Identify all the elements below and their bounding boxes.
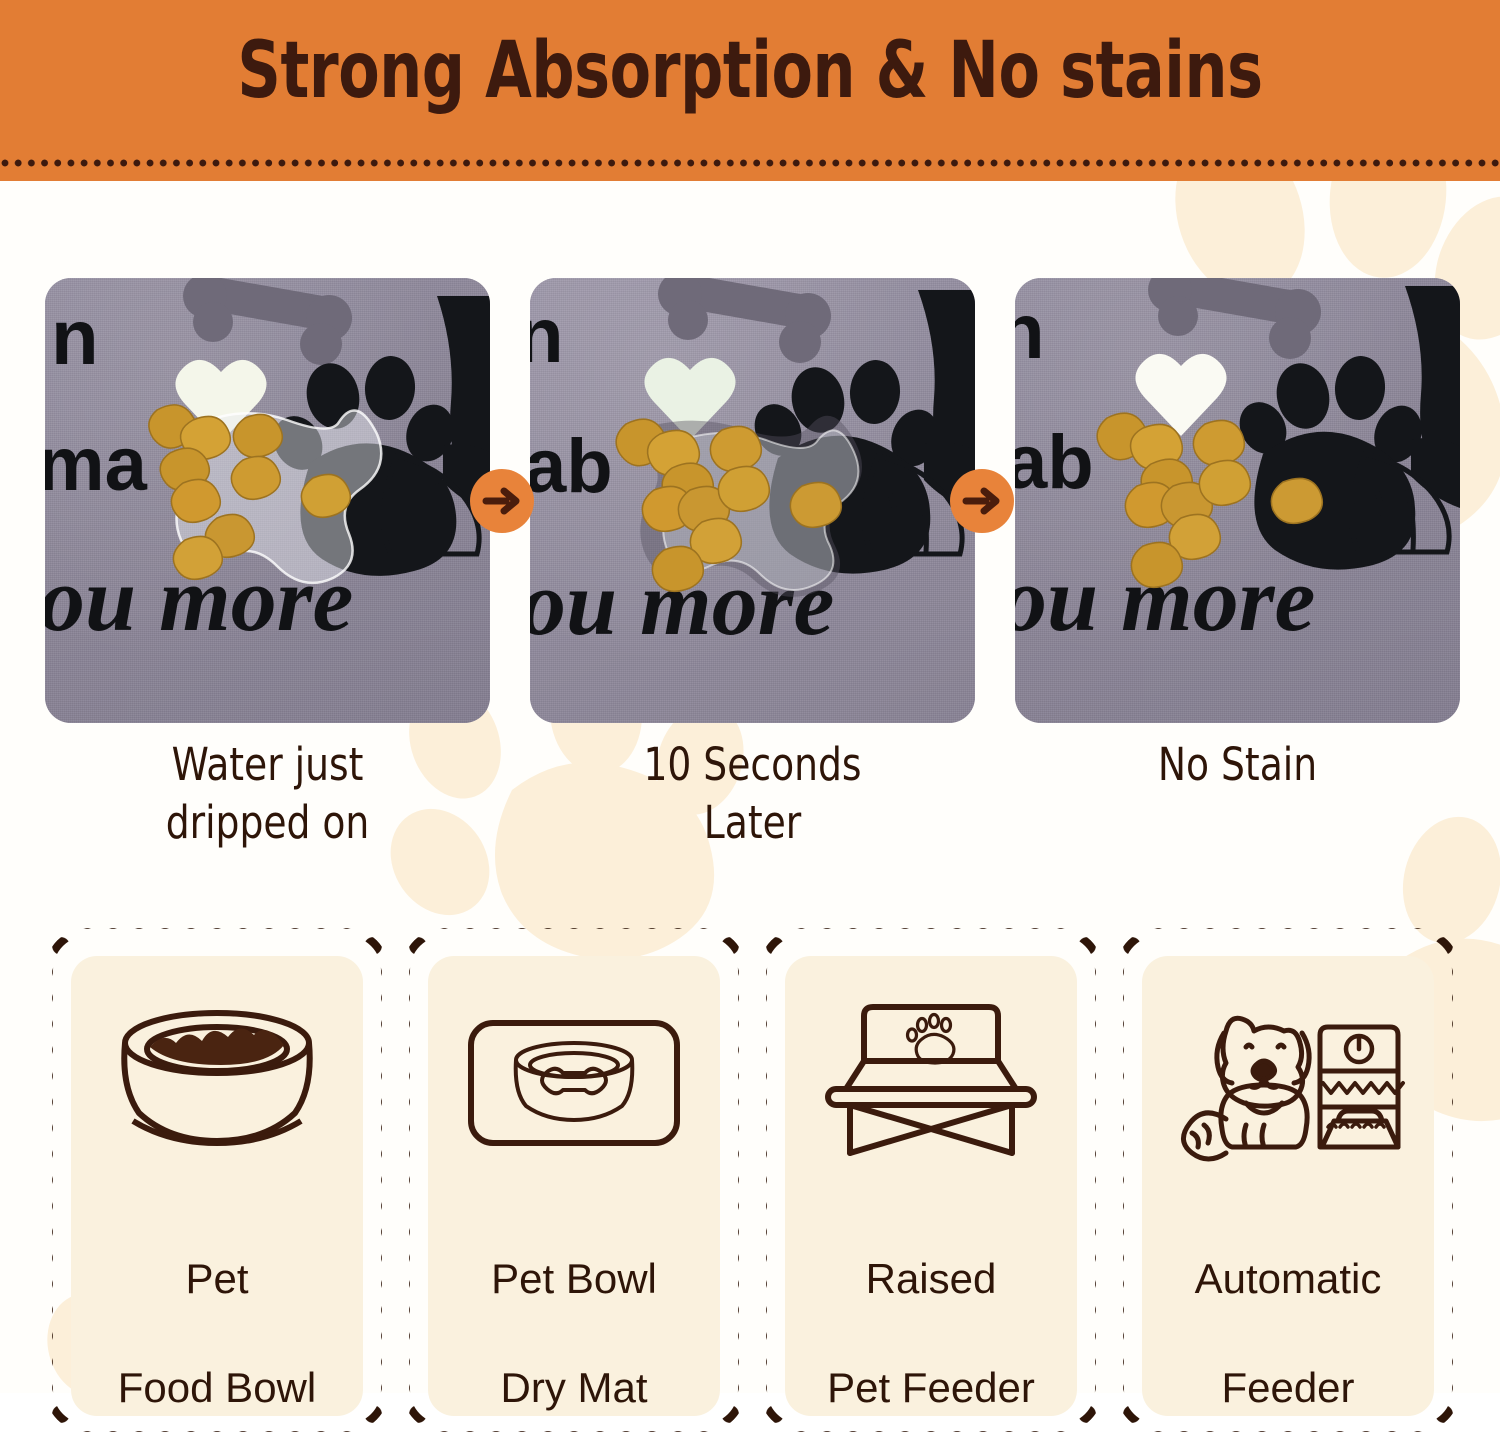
mat-artwork: n ab ou more <box>530 278 975 723</box>
caption-line: 10 Seconds <box>546 736 960 794</box>
use-case-card-automatic-feeder: Automatic Feeder <box>1116 928 1460 1432</box>
caption-step-ten-seconds: 10 Seconds Later <box>546 736 960 856</box>
arrow-right-icon <box>482 481 522 521</box>
card-label: Pet Food Bowl <box>118 1198 316 1416</box>
dog-food-bowl-icon <box>97 990 337 1176</box>
use-case-card-pet-food-bowl: Pet Food Bowl <box>45 928 389 1432</box>
caption-line: Later <box>546 794 960 852</box>
label-line2: Pet Feeder <box>827 1364 1035 1411</box>
card-label: Pet Bowl Dry Mat <box>491 1198 657 1416</box>
demo-photo-step-ten-seconds: n ab ou more <box>530 278 975 723</box>
bone-graphic <box>1148 278 1321 359</box>
demo-photo-step-no-stain: n ab ou more <box>1015 278 1460 723</box>
banner-dotted-divider <box>0 157 1500 169</box>
svg-text:ab: ab <box>530 424 613 509</box>
arrow-right-icon-1 <box>470 469 534 533</box>
svg-text:n: n <box>1015 287 1045 375</box>
use-case-card-pet-bowl-dry-mat: Pet Bowl Dry Mat <box>402 928 746 1432</box>
arrow-right-icon-2 <box>950 469 1014 533</box>
label-line2: Feeder <box>1221 1364 1354 1411</box>
label-line2: Dry Mat <box>501 1364 648 1411</box>
dog-with-automatic-feeder-icon <box>1168 990 1408 1176</box>
card-label: Raised Pet Feeder <box>827 1198 1035 1416</box>
svg-text:n: n <box>51 293 99 381</box>
header-banner: Strong Absorption & No stains <box>0 0 1500 181</box>
caption-line: No Stain <box>1031 736 1445 794</box>
raised-feeder-stand-icon <box>811 990 1051 1176</box>
label-line1: Raised <box>866 1255 997 1302</box>
bone-graphic <box>183 278 352 365</box>
demo-photo-step-water-dripped: n ma ou more <box>45 278 490 723</box>
svg-text:ab: ab <box>1015 420 1094 505</box>
label-line1: Pet <box>185 1255 248 1302</box>
svg-text:ma: ma <box>45 422 148 507</box>
bowl-on-mat-icon <box>454 990 694 1176</box>
mat-artwork: n ma ou more <box>45 278 490 723</box>
paw-print-graphic <box>1230 354 1429 569</box>
use-case-card-raised-pet-feeder: Raised Pet Feeder <box>759 928 1103 1432</box>
svg-text:n: n <box>530 291 564 379</box>
caption-line: Water just <box>61 736 475 794</box>
demo-captions-row: Water just dripped on 10 Seconds Later N… <box>45 736 1460 856</box>
caption-line: dripped on <box>61 794 475 852</box>
caption-step-no-stain: No Stain <box>1031 736 1445 856</box>
label-line1: Pet Bowl <box>491 1255 657 1302</box>
bone-graphic <box>658 278 831 363</box>
mat-artwork: n ab ou more <box>1015 278 1460 723</box>
card-label: Automatic Feeder <box>1195 1198 1382 1416</box>
label-line1: Automatic <box>1195 1255 1382 1302</box>
label-line2: Food Bowl <box>118 1364 316 1411</box>
banner-title: Strong Absorption & No stains <box>105 26 1395 116</box>
use-case-cards-row: Pet Food Bowl <box>45 928 1460 1428</box>
arrow-right-icon <box>962 481 1002 521</box>
absorption-demo-row: n ma ou more <box>45 278 1460 723</box>
caption-step-water-dripped: Water just dripped on <box>61 736 475 856</box>
